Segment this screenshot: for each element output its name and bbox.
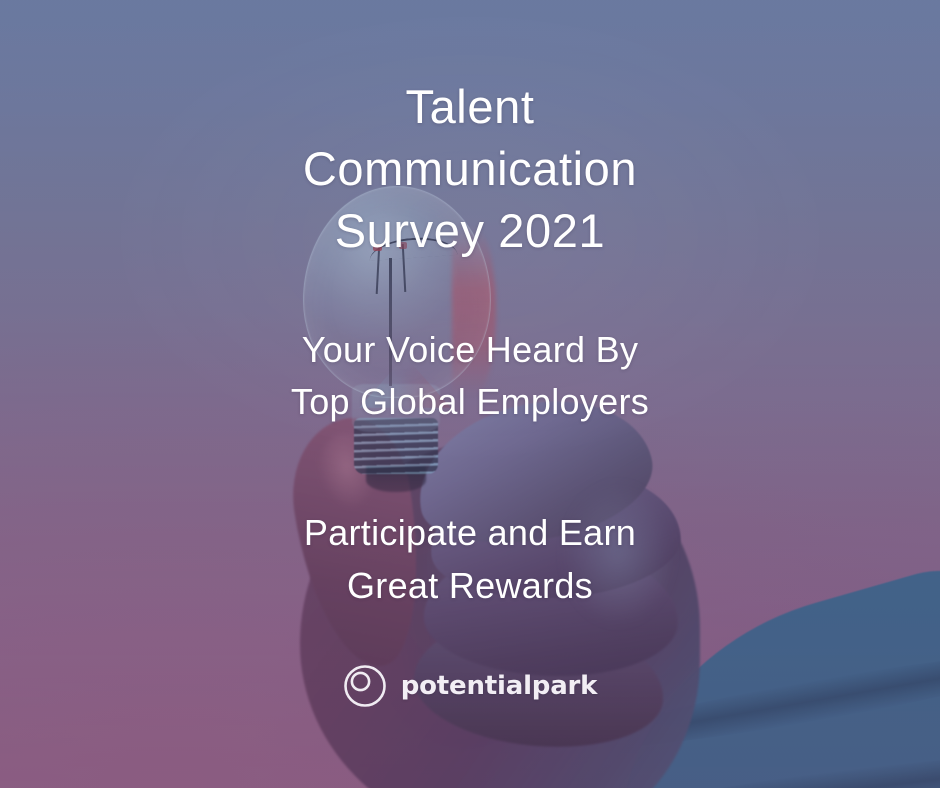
rewards-line-2: Great Rewards xyxy=(304,559,636,612)
potentialpark-circle-icon xyxy=(343,664,387,708)
page-title: Talent Communication Survey 2021 xyxy=(303,76,637,262)
headline-line-2: Communication xyxy=(303,138,637,200)
poster-content: Talent Communication Survey 2021 Your Vo… xyxy=(0,0,940,788)
subheading: Your Voice Heard By Top Global Employers xyxy=(291,324,649,428)
headline-line-3: Survey 2021 xyxy=(303,200,637,262)
rewards-line-1: Participate and Earn xyxy=(304,506,636,559)
subheading-line-2: Top Global Employers xyxy=(291,376,649,428)
subheading-line-1: Your Voice Heard By xyxy=(291,324,649,376)
survey-promo-poster: Talent Communication Survey 2021 Your Vo… xyxy=(0,0,940,788)
headline-line-1: Talent xyxy=(303,76,637,138)
rewards-message: Participate and Earn Great Rewards xyxy=(304,506,636,612)
potentialpark-logo: potentialpark xyxy=(343,664,598,708)
potentialpark-wordmark: potentialpark xyxy=(401,671,598,701)
